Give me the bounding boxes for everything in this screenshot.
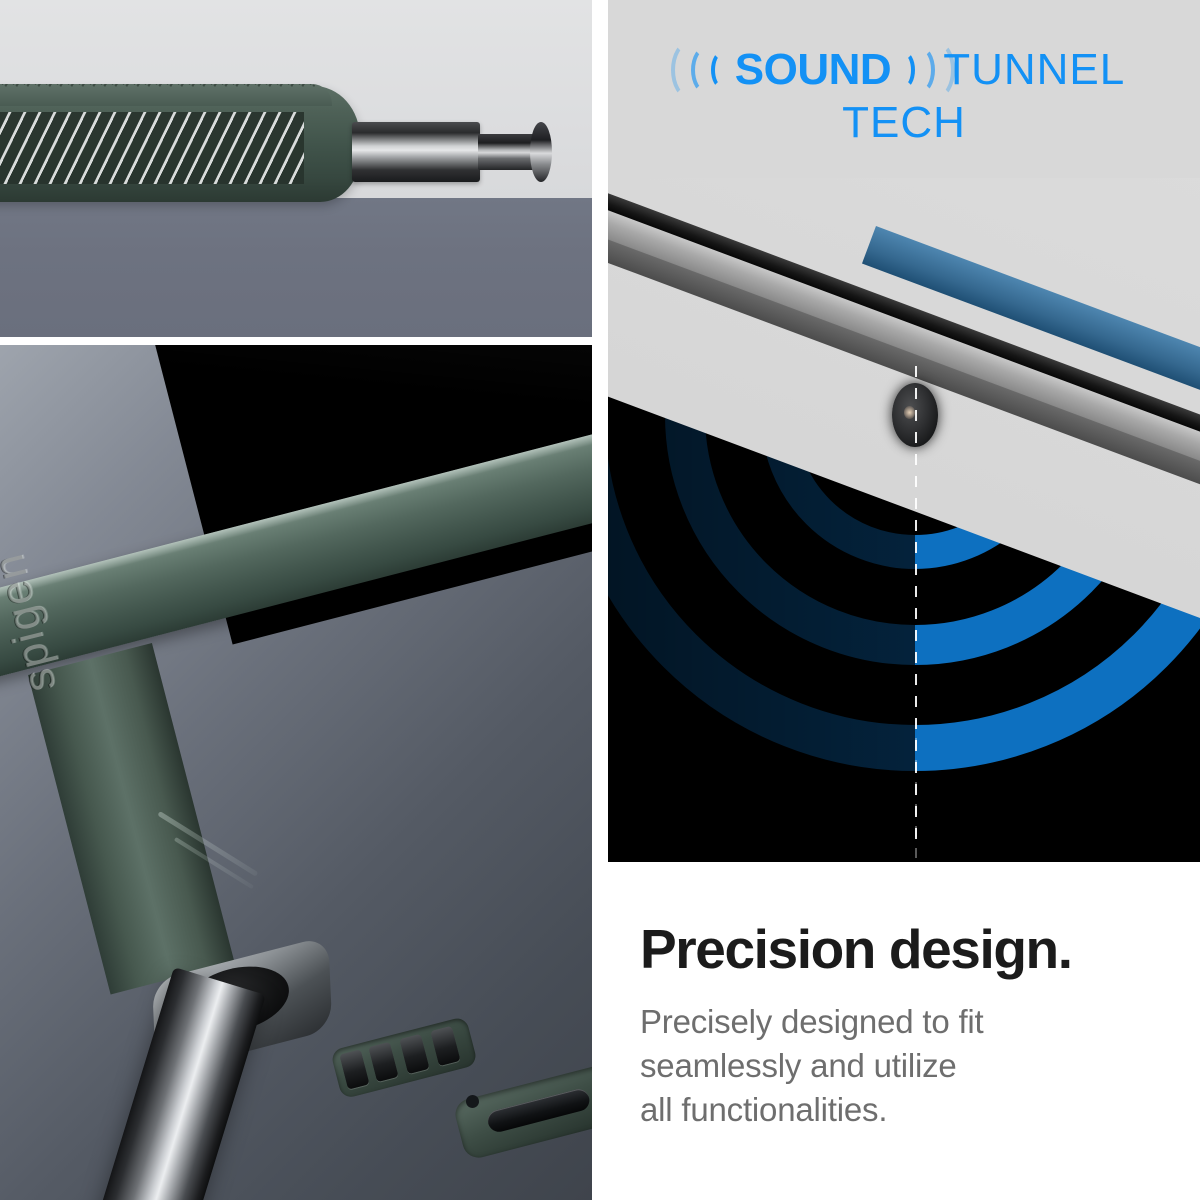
feature-title-word-tunnel: TUNNEL — [943, 45, 1125, 94]
product-marketing-image: spigen SOUND TUNNEL TECH — [0, 0, 1200, 1200]
panel-copy: Precision design. Precisely designed to … — [608, 862, 1200, 1200]
panel-pen-insert: spigen — [0, 345, 592, 1200]
copy-body: Precisely designed to fit seamlessly and… — [640, 980, 1180, 1132]
sound-wave-arcs-left-icon — [683, 44, 735, 88]
copy-body-line-1: Precisely designed to fit — [640, 1000, 1180, 1044]
case-diagonal-stripe-texture — [0, 112, 304, 184]
panel-pen-eject — [0, 0, 592, 337]
feature-title-line1: SOUND TUNNEL — [608, 44, 1200, 95]
dashed-centerline-fade — [915, 738, 917, 858]
copy-heading: Precision design. — [640, 862, 1180, 980]
feature-title-word-sound: SOUND — [735, 45, 891, 94]
dark-surface — [0, 198, 592, 337]
stylus-barrel — [352, 122, 480, 182]
sound-wave-arcs-right-icon — [891, 44, 943, 88]
feature-title-line2: TECH — [608, 98, 1200, 148]
panel-sound-tunnel: SOUND TUNNEL TECH — [608, 0, 1200, 862]
usb-c-port-opening — [486, 1087, 592, 1134]
speaker-port-gleam — [904, 406, 915, 419]
case-chevron-texture — [0, 84, 328, 104]
copy-body-line-3: all functionalities. — [640, 1088, 1180, 1132]
copy-body-line-2: seamlessly and utilize — [640, 1044, 1180, 1088]
feature-header-band: SOUND TUNNEL TECH — [608, 0, 1200, 178]
stylus-end-cap — [530, 122, 552, 182]
sound-tunnel-photo — [608, 178, 1200, 862]
stylus-neck — [478, 134, 534, 170]
copy-block: Precision design. Precisely designed to … — [640, 862, 1180, 1132]
